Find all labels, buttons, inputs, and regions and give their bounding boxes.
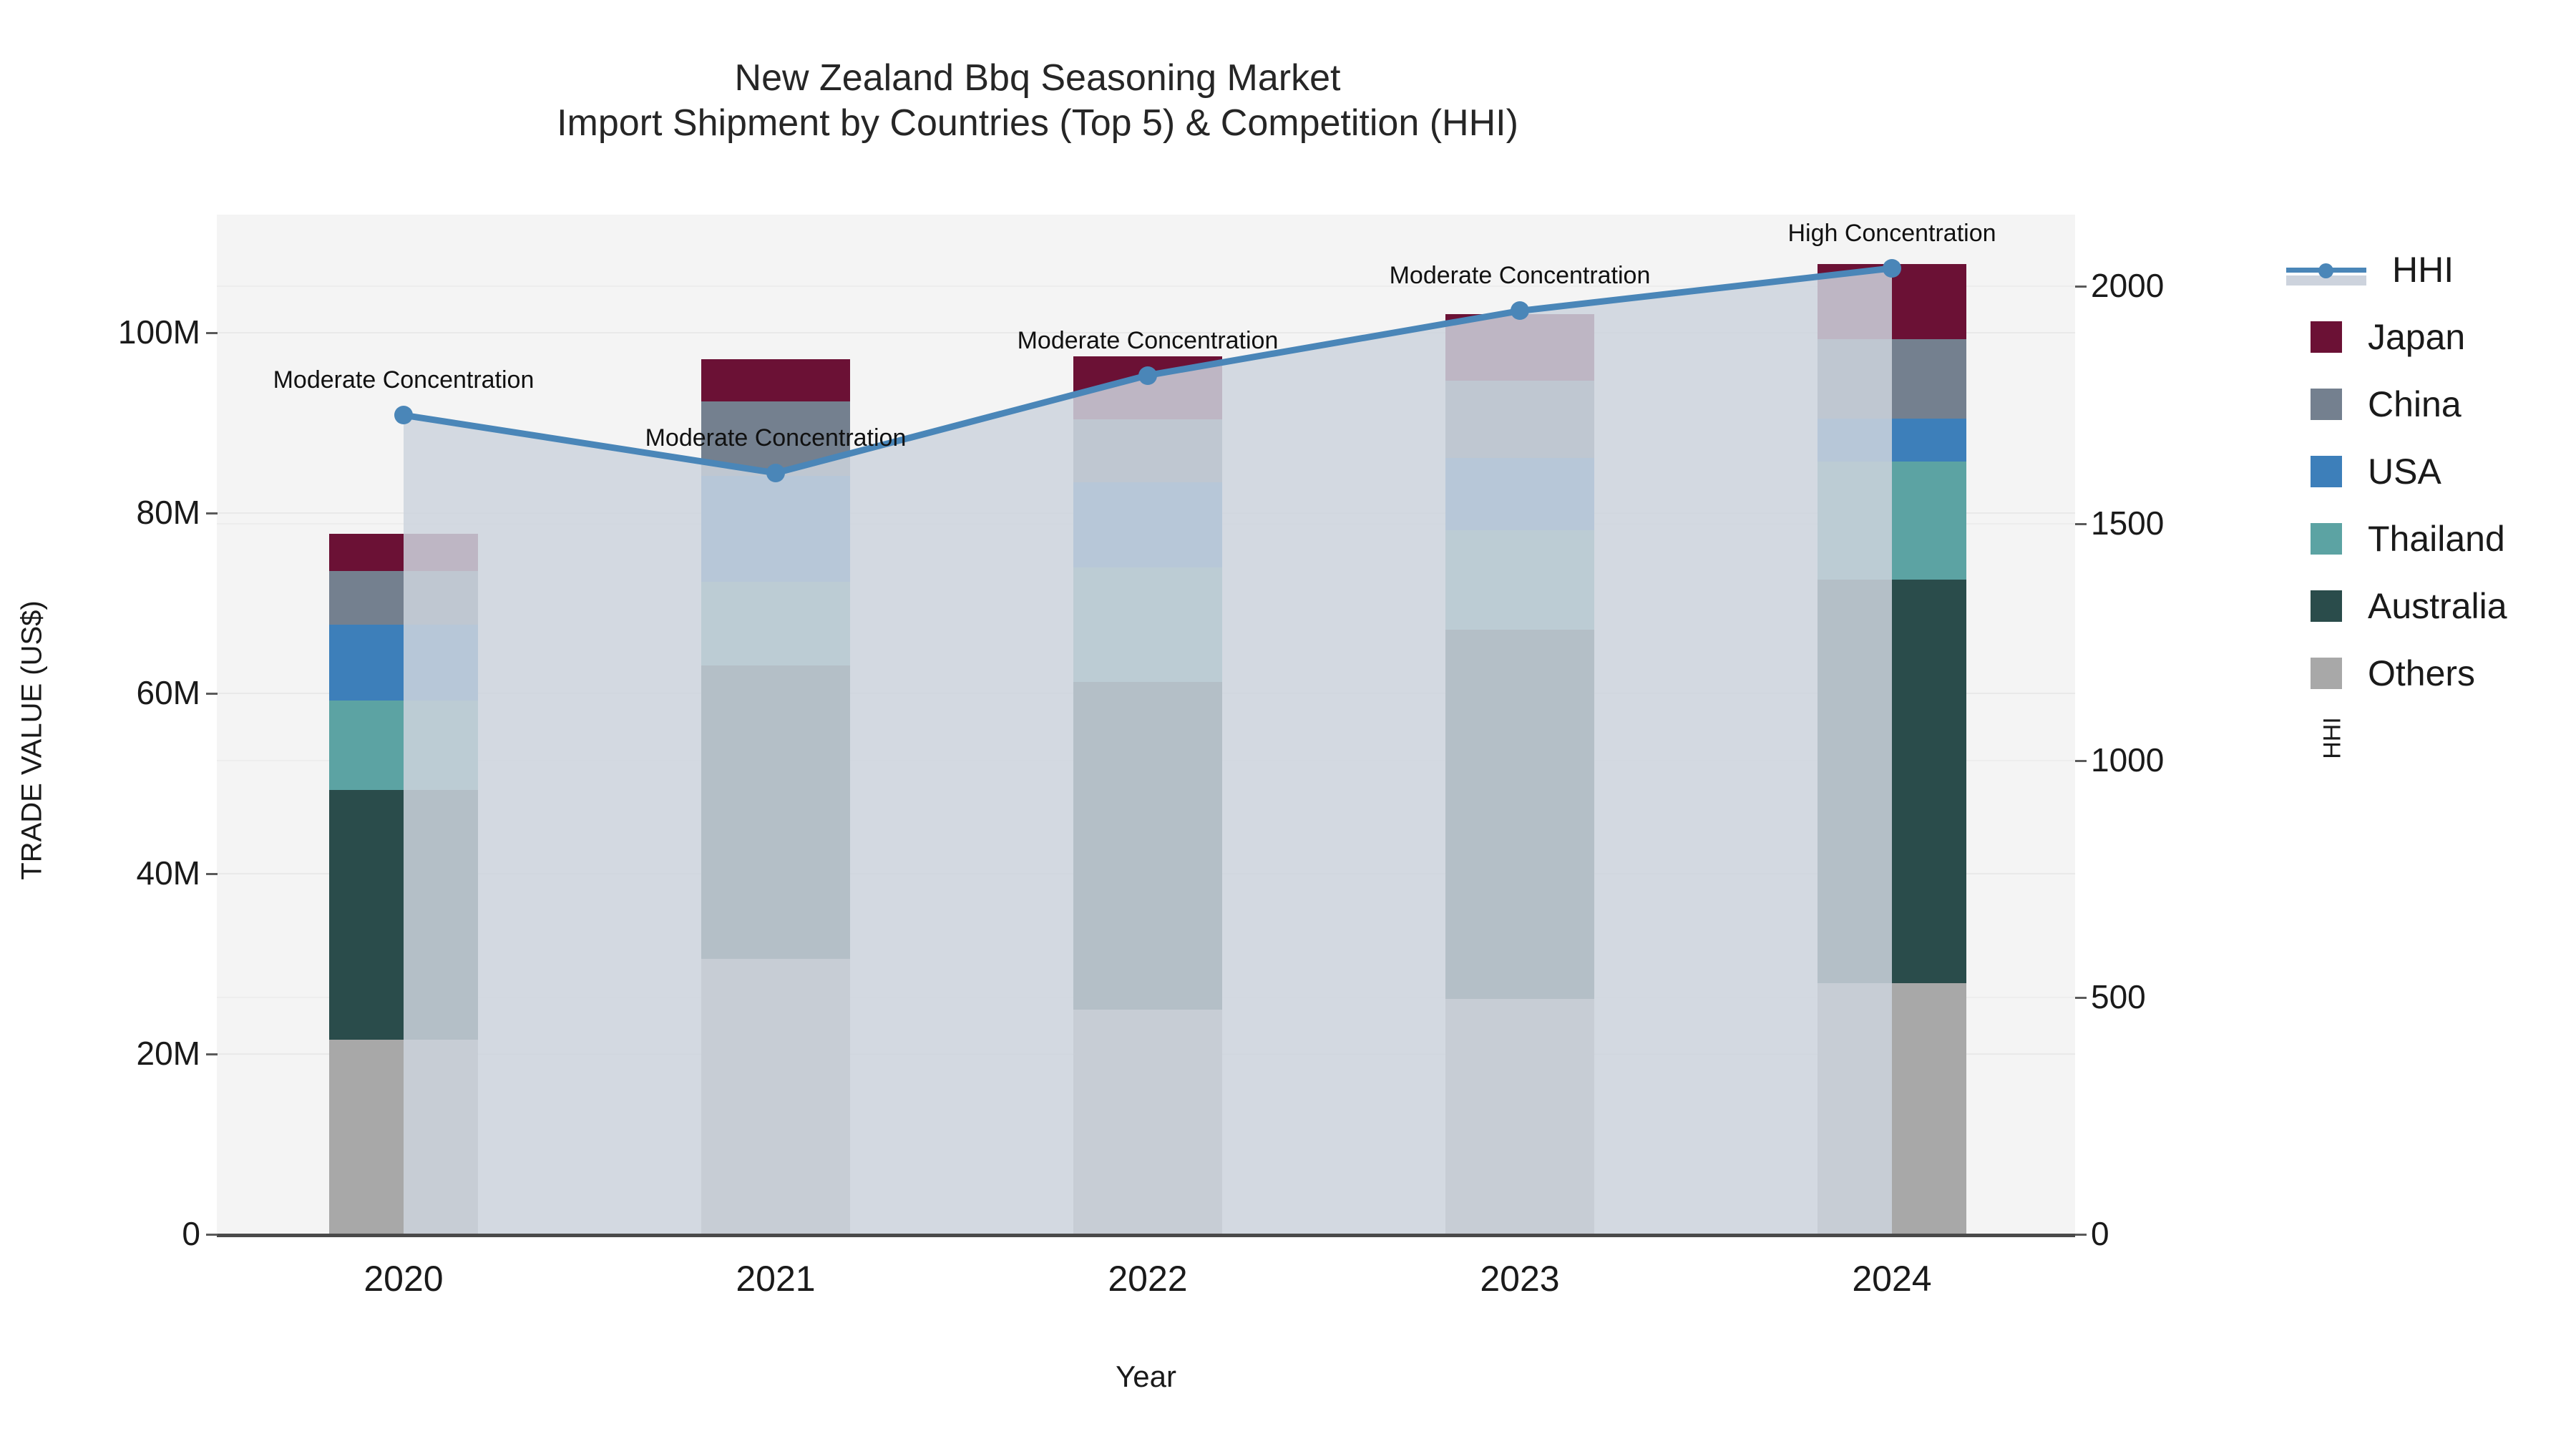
y-tickmark-right bbox=[2075, 523, 2087, 525]
y-axis-left-title: TRADE VALUE (US$) bbox=[16, 440, 49, 1041]
y-tickmark-right bbox=[2075, 1234, 2087, 1236]
y-tickmark-left bbox=[206, 332, 218, 334]
chart-title-line2: Import Shipment by Countries (Top 5) & C… bbox=[0, 101, 2075, 146]
y-tick-right-1500: 1500 bbox=[2091, 504, 2306, 542]
legend-swatch-icon bbox=[2311, 590, 2342, 622]
legend-item-hhi[interactable]: HHI bbox=[2286, 236, 2507, 303]
chart-title-line1: New Zealand Bbq Seasoning Market bbox=[735, 57, 1341, 99]
hhi-marker-2024[interactable] bbox=[1883, 259, 1901, 278]
legend: HHIJapanChinaUSAThailandAustraliaOthers bbox=[2286, 236, 2507, 707]
y-tickmark-left bbox=[206, 1053, 218, 1055]
x-tick-2024: 2024 bbox=[1785, 1258, 1999, 1299]
y-tickmark-left bbox=[206, 1234, 218, 1236]
y-tick-right-2000: 2000 bbox=[2091, 266, 2306, 305]
legend-label: USA bbox=[2368, 451, 2441, 492]
y-tick-right-0: 0 bbox=[2091, 1214, 2306, 1253]
legend-item-japan[interactable]: Japan bbox=[2286, 303, 2507, 371]
y-tick-left-0: 0 bbox=[0, 1214, 200, 1253]
annotation-2022: Moderate Concentration bbox=[1018, 327, 1279, 355]
annotation-2024: High Concentration bbox=[1787, 220, 1996, 248]
legend-line-icon bbox=[2286, 254, 2366, 286]
legend-item-others[interactable]: Others bbox=[2286, 640, 2507, 707]
y-tickmark-right bbox=[2075, 286, 2087, 288]
legend-label: Others bbox=[2368, 653, 2475, 694]
legend-label: Australia bbox=[2368, 585, 2507, 627]
chart-title: New Zealand Bbq Seasoning Market Import … bbox=[0, 56, 2075, 147]
annotation-2023: Moderate Concentration bbox=[1390, 262, 1651, 290]
x-tick-2023: 2023 bbox=[1413, 1258, 1627, 1299]
hhi-marker-2021[interactable] bbox=[766, 464, 785, 482]
y-tick-right-500: 500 bbox=[2091, 977, 2306, 1016]
hhi-marker-2020[interactable] bbox=[394, 406, 413, 424]
legend-label: Thailand bbox=[2368, 518, 2505, 560]
hhi-marker-2023[interactable] bbox=[1511, 301, 1529, 320]
x-axis-line bbox=[217, 1234, 2075, 1237]
y-tickmark-left bbox=[206, 873, 218, 875]
legend-label: HHI bbox=[2392, 249, 2454, 291]
legend-item-china[interactable]: China bbox=[2286, 371, 2507, 438]
annotation-2021: Moderate Concentration bbox=[645, 424, 907, 452]
legend-swatch-icon bbox=[2311, 658, 2342, 689]
y-tickmark-left bbox=[206, 512, 218, 514]
y-tickmark-right bbox=[2075, 997, 2087, 999]
legend-item-usa[interactable]: USA bbox=[2286, 438, 2507, 505]
legend-swatch-icon bbox=[2311, 523, 2342, 555]
legend-label: China bbox=[2368, 384, 2462, 425]
x-tick-2021: 2021 bbox=[668, 1258, 883, 1299]
hhi-marker-2022[interactable] bbox=[1138, 366, 1157, 385]
legend-swatch-icon bbox=[2311, 456, 2342, 487]
chart-figure: New Zealand Bbq Seasoning Market Import … bbox=[0, 0, 2576, 1449]
legend-label: Japan bbox=[2368, 316, 2465, 358]
y-tick-left-100M: 100M bbox=[0, 313, 200, 351]
legend-item-australia[interactable]: Australia bbox=[2286, 572, 2507, 640]
y-tickmark-left bbox=[206, 693, 218, 695]
legend-item-thailand[interactable]: Thailand bbox=[2286, 505, 2507, 572]
annotation-2020: Moderate Concentration bbox=[273, 366, 535, 394]
x-tick-2020: 2020 bbox=[296, 1258, 511, 1299]
legend-swatch-icon bbox=[2311, 389, 2342, 420]
x-axis-title: Year bbox=[217, 1360, 2075, 1394]
legend-swatch-icon bbox=[2311, 321, 2342, 353]
y-tickmark-right bbox=[2075, 760, 2087, 762]
x-tick-2022: 2022 bbox=[1040, 1258, 1255, 1299]
y-tick-right-1000: 1000 bbox=[2091, 741, 2306, 779]
